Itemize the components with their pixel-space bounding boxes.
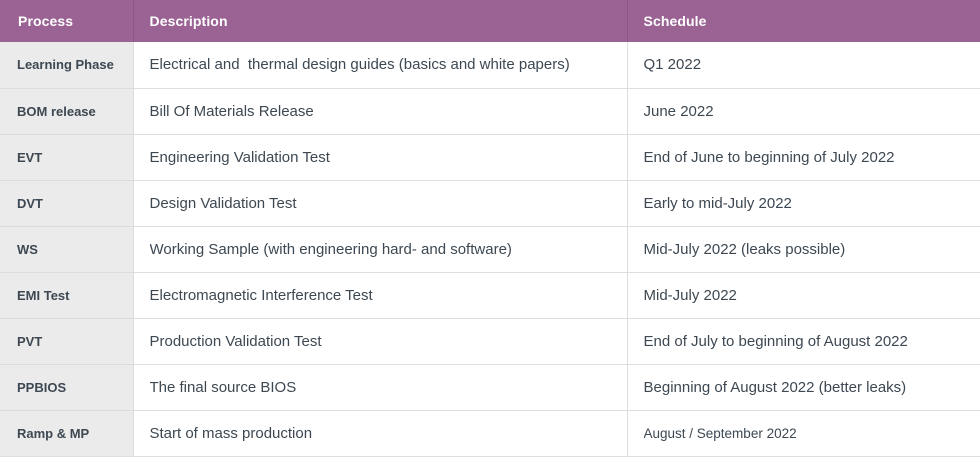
schedule-label: End of June to beginning of July 2022 bbox=[644, 149, 979, 166]
cell-schedule: Beginning of August 2022 (better leaks) bbox=[627, 364, 980, 410]
description-label: Production Validation Test bbox=[150, 333, 626, 350]
schedule-label: August / September 2022 bbox=[644, 426, 979, 441]
process-schedule-table: Process Description Schedule Learning Ph… bbox=[0, 0, 980, 457]
process-label: PPBIOS bbox=[17, 380, 132, 395]
column-header-schedule-label: Schedule bbox=[644, 13, 980, 29]
cell-description: Working Sample (with engineering hard- a… bbox=[133, 226, 627, 272]
process-label: Ramp & MP bbox=[17, 426, 132, 441]
process-label: DVT bbox=[17, 196, 132, 211]
cell-process: EVT bbox=[0, 134, 133, 180]
table-row: EMI Test Electromagnetic Interference Te… bbox=[0, 272, 980, 318]
process-label: PVT bbox=[17, 334, 132, 349]
process-label: Learning Phase bbox=[17, 57, 132, 72]
cell-description: Start of mass production bbox=[133, 410, 627, 456]
table-row: PPBIOS The final source BIOS Beginning o… bbox=[0, 364, 980, 410]
cell-description: Design Validation Test bbox=[133, 180, 627, 226]
cell-description: Bill Of Materials Release bbox=[133, 88, 627, 134]
cell-schedule: Early to mid-July 2022 bbox=[627, 180, 980, 226]
table-row: BOM release Bill Of Materials Release Ju… bbox=[0, 88, 980, 134]
cell-schedule: End of June to beginning of July 2022 bbox=[627, 134, 980, 180]
description-label: Start of mass production bbox=[150, 425, 626, 442]
cell-schedule: End of July to beginning of August 2022 bbox=[627, 318, 980, 364]
table-header: Process Description Schedule bbox=[0, 0, 980, 42]
column-header-description[interactable]: Description bbox=[133, 0, 627, 42]
process-label: EMI Test bbox=[17, 288, 132, 303]
schedule-label: Early to mid-July 2022 bbox=[644, 195, 979, 212]
table-body: Learning Phase Electrical and thermal de… bbox=[0, 42, 980, 456]
cell-description: Production Validation Test bbox=[133, 318, 627, 364]
table-row: WS Working Sample (with engineering hard… bbox=[0, 226, 980, 272]
process-label: WS bbox=[17, 242, 132, 257]
table-row: PVT Production Validation Test End of Ju… bbox=[0, 318, 980, 364]
cell-description: Electrical and thermal design guides (ba… bbox=[133, 42, 627, 88]
process-label: BOM release bbox=[17, 104, 132, 119]
cell-schedule: June 2022 bbox=[627, 88, 980, 134]
cell-schedule: Q1 2022 bbox=[627, 42, 980, 88]
cell-process: BOM release bbox=[0, 88, 133, 134]
cell-description: Electromagnetic Interference Test bbox=[133, 272, 627, 318]
cell-process: Ramp & MP bbox=[0, 410, 133, 456]
column-header-process[interactable]: Process bbox=[0, 0, 133, 42]
table-header-row: Process Description Schedule bbox=[0, 0, 980, 42]
cell-process: EMI Test bbox=[0, 272, 133, 318]
description-label: The final source BIOS bbox=[150, 379, 626, 396]
column-header-description-label: Description bbox=[150, 13, 627, 29]
column-header-process-label: Process bbox=[18, 13, 133, 29]
description-label: Electrical and thermal design guides (ba… bbox=[150, 56, 626, 73]
description-label: Design Validation Test bbox=[150, 195, 626, 212]
table-row: EVT Engineering Validation Test End of J… bbox=[0, 134, 980, 180]
description-label: Working Sample (with engineering hard- a… bbox=[150, 241, 626, 258]
schedule-label: Mid-July 2022 (leaks possible) bbox=[644, 241, 979, 258]
cell-schedule: Mid-July 2022 (leaks possible) bbox=[627, 226, 980, 272]
cell-process: PVT bbox=[0, 318, 133, 364]
column-header-schedule[interactable]: Schedule bbox=[627, 0, 980, 42]
schedule-label: June 2022 bbox=[644, 103, 979, 120]
schedule-label: Beginning of August 2022 (better leaks) bbox=[644, 379, 979, 396]
table-row: DVT Design Validation Test Early to mid-… bbox=[0, 180, 980, 226]
process-label: EVT bbox=[17, 150, 132, 165]
cell-schedule: Mid-July 2022 bbox=[627, 272, 980, 318]
schedule-label: Mid-July 2022 bbox=[644, 287, 979, 304]
cell-process: DVT bbox=[0, 180, 133, 226]
schedule-label: Q1 2022 bbox=[644, 56, 979, 73]
table-row: Learning Phase Electrical and thermal de… bbox=[0, 42, 980, 88]
cell-process: WS bbox=[0, 226, 133, 272]
description-label: Electromagnetic Interference Test bbox=[150, 287, 626, 304]
cell-schedule: August / September 2022 bbox=[627, 410, 980, 456]
description-label: Engineering Validation Test bbox=[150, 149, 626, 166]
description-label: Bill Of Materials Release bbox=[150, 103, 626, 120]
table-row: Ramp & MP Start of mass production Augus… bbox=[0, 410, 980, 456]
cell-process: Learning Phase bbox=[0, 42, 133, 88]
cell-description: The final source BIOS bbox=[133, 364, 627, 410]
schedule-label: End of July to beginning of August 2022 bbox=[644, 333, 979, 350]
cell-description: Engineering Validation Test bbox=[133, 134, 627, 180]
cell-process: PPBIOS bbox=[0, 364, 133, 410]
schedule-table-container: Process Description Schedule Learning Ph… bbox=[0, 0, 980, 468]
